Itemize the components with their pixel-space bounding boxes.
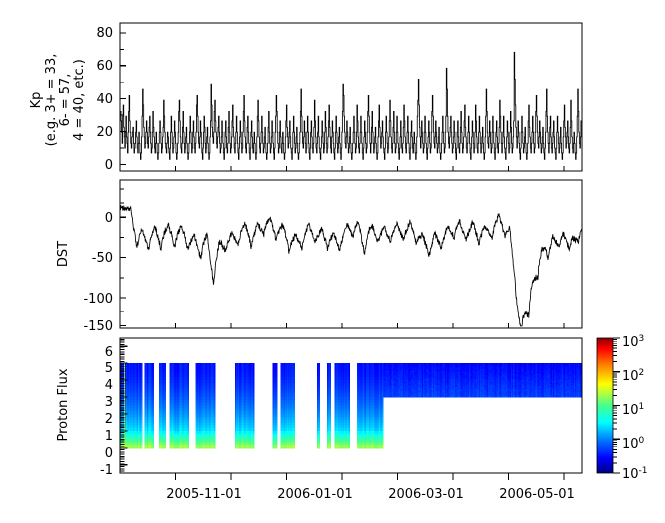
colorbar-exponent-1e3: 3 (639, 334, 645, 344)
kp-ytick-80: 80 (96, 26, 113, 41)
dst-y-axis-title: DST (56, 241, 71, 267)
pf-ytick-4: 4 (105, 378, 113, 393)
dst-ytick-m150: -150 (83, 319, 113, 334)
pf-ytick-3: 3 (105, 395, 113, 410)
pf-ytick-5: 5 (105, 361, 113, 376)
colorbar-mantissa-1e2: 10 (622, 369, 639, 384)
xtick-2006-05-01: 2006-05-01 (499, 487, 575, 502)
pf-ytick-1: 1 (105, 429, 113, 444)
xtick-2006-03-01: 2006-03-01 (388, 487, 464, 502)
pf-ytick-2: 2 (105, 412, 113, 427)
scientific-figure: 0 20 40 60 80 Kp (e.g. 3+ = 33, 6- = 57, (0, 0, 665, 523)
kp-ytick-20: 20 (96, 125, 113, 140)
colorbar-exponent-1e0: 0 (639, 436, 645, 446)
kp-ylabel-line-2: 6- = 57, (58, 74, 73, 127)
figure-root: 0 20 40 60 80 Kp (e.g. 3+ = 33, 6- = 57, (0, 0, 665, 523)
colorbar-exponent-1e2: 2 (639, 368, 645, 378)
colorbar-mantissa-1e1: 10 (622, 403, 639, 418)
colorbar-mantissa-1e3: 10 (622, 335, 639, 350)
kp-ylabel-line-0: Kp (29, 92, 44, 109)
dst-ytick-0: 0 (105, 211, 113, 226)
colorbar-exponent-1em1: -1 (639, 466, 648, 476)
dst-ylabel: DST (56, 241, 71, 267)
kp-ylabel-line-3: 4 = 40, etc.) (72, 59, 87, 141)
colorbar-exponent-1e1: 1 (639, 402, 645, 412)
xtick-2005-11-01: 2005-11-01 (166, 487, 242, 502)
pf-ytick-6: 6 (105, 345, 113, 360)
colorbar-gradient (597, 338, 613, 473)
kp-ylabel-line-1: (e.g. 3+ = 33, (44, 54, 59, 147)
dst-ytick-m50: -50 (92, 251, 113, 266)
kp-ytick-40: 40 (96, 92, 113, 107)
pf-ytick-0: 0 (105, 446, 113, 461)
colorbar-mantissa-1e0: 10 (622, 437, 639, 452)
pf-ylabel: Proton Flux (56, 368, 71, 441)
kp-ytick-60: 60 (96, 59, 113, 74)
colorbar-mantissa-1em1: 10 (622, 467, 639, 482)
xtick-2006-01-01: 2006-01-01 (277, 487, 353, 502)
dst-ytick-m100: -100 (83, 292, 113, 307)
pf-ytick-m1: -1 (100, 463, 113, 478)
kp-ytick-0: 0 (105, 158, 113, 173)
pf-y-axis-title: Proton Flux (56, 368, 71, 441)
